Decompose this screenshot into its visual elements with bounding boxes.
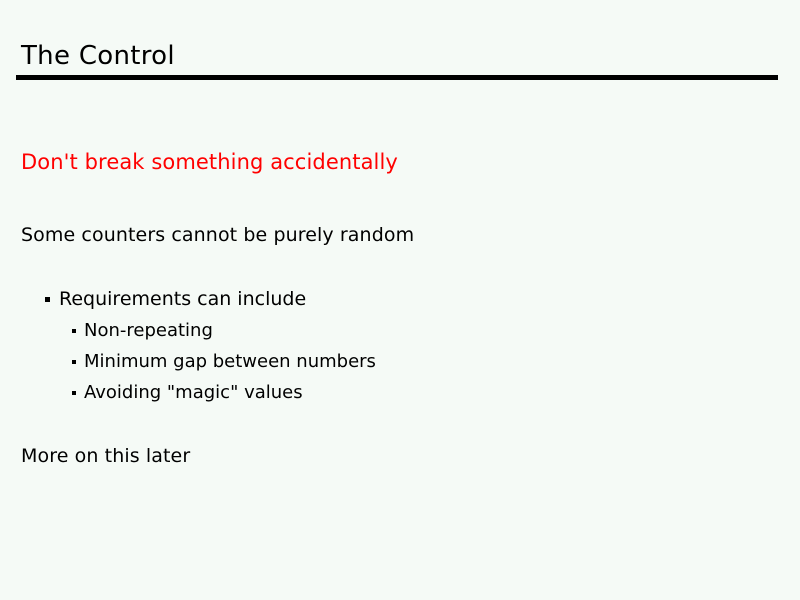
square-bullet-icon: [72, 391, 76, 395]
slide-body: Don't break something accidentally Some …: [0, 0, 800, 600]
section-heading-warning: Don't break something accidentally: [21, 150, 398, 174]
list-item-label: Requirements can include: [59, 284, 306, 315]
list-item-label: Non-repeating: [84, 315, 213, 346]
closing-statement: More on this later: [21, 444, 190, 468]
list-item: Non-repeating: [0, 315, 800, 346]
list-item: Avoiding "magic" values: [0, 377, 800, 408]
square-bullet-icon: [72, 329, 76, 333]
square-bullet-icon: [72, 360, 76, 364]
list-item: Requirements can include: [0, 284, 800, 315]
list-item-label: Minimum gap between numbers: [84, 346, 376, 377]
list-item-label: Avoiding "magic" values: [84, 377, 303, 408]
list-item: Minimum gap between numbers: [0, 346, 800, 377]
presentation-slide: The Control Don't break something accide…: [0, 0, 800, 600]
bullet-list: Requirements can include Non-repeating M…: [0, 284, 800, 408]
square-bullet-icon: [45, 297, 50, 302]
lead-statement: Some counters cannot be purely random: [21, 223, 414, 247]
